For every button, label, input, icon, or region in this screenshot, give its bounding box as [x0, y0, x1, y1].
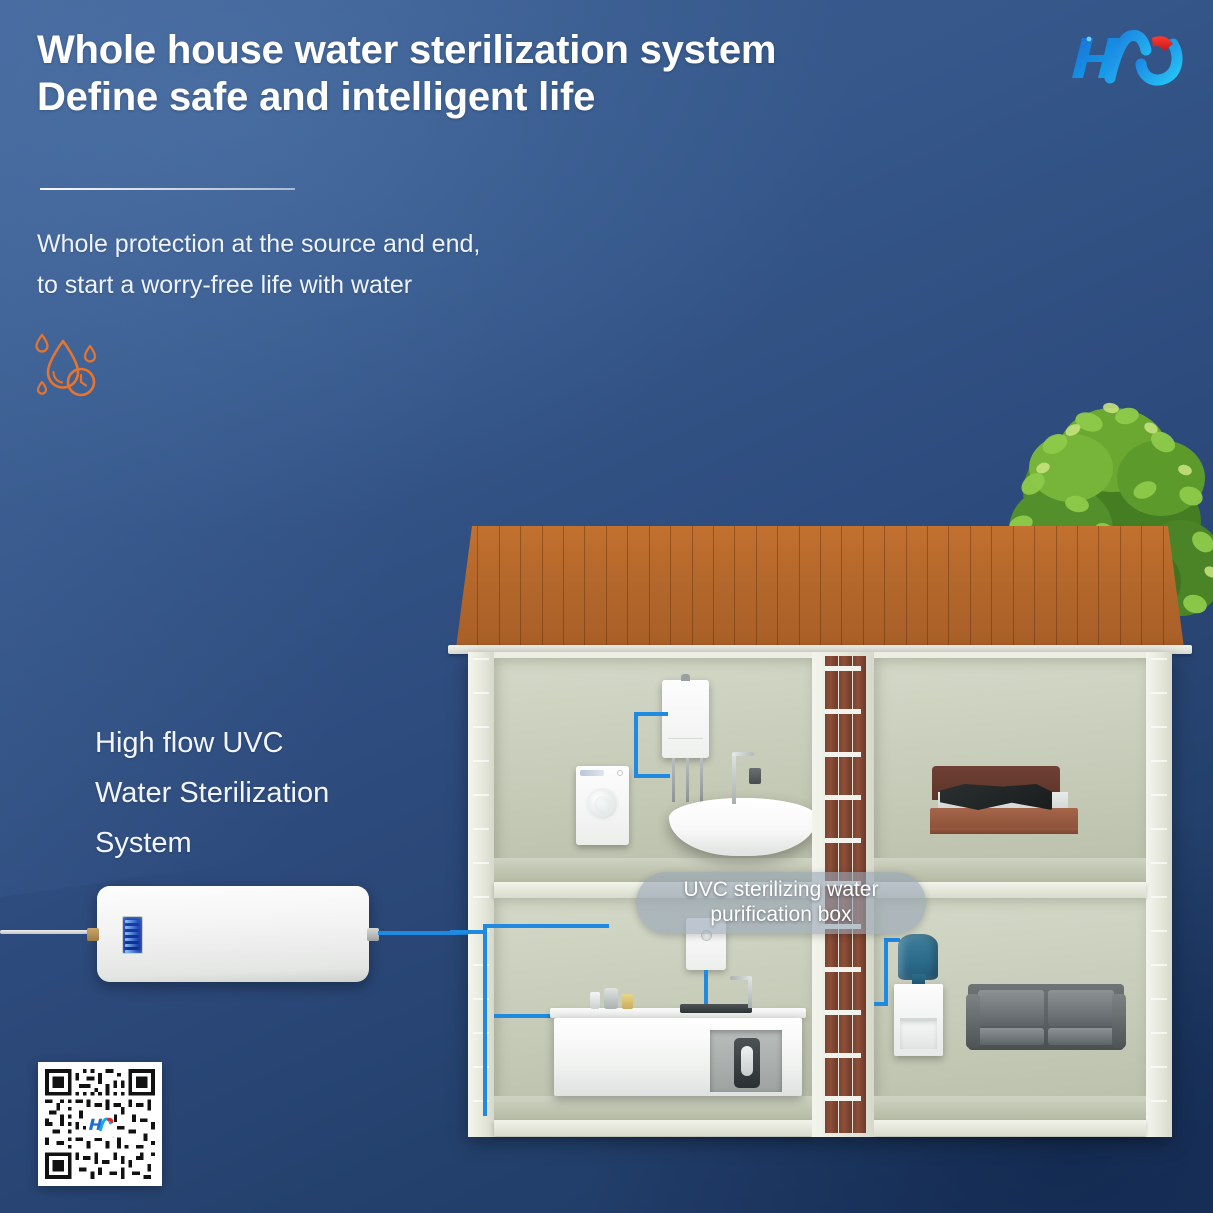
pipe-top-branch: [483, 924, 609, 928]
product-label-line-1: High flow UVC: [95, 718, 425, 768]
device-lcd-display[interactable]: [122, 916, 143, 954]
heater-pipe-c: [700, 758, 703, 802]
water-dispenser: [894, 984, 943, 1056]
sofa-back-cushion-left: [978, 990, 1044, 1026]
cabinet-appliance: [734, 1038, 760, 1088]
title-divider: [40, 188, 295, 190]
device-inlet-port: [87, 928, 99, 941]
qr-code-matrix: [45, 1069, 155, 1179]
inlet-cable: [0, 930, 100, 934]
subtitle-line-2: to start a worry-free life with water: [37, 265, 677, 306]
tub-faucet-spout: [732, 752, 754, 756]
product-label-line-2: Water Sterilization: [95, 768, 425, 818]
uvc-sterilizer-device[interactable]: [97, 886, 369, 982]
bed-base: [930, 808, 1078, 830]
wall-column-right: [1146, 652, 1172, 1137]
headline-line-2: Define safe and intelligent life: [37, 74, 857, 121]
pipe-entry: [450, 930, 486, 934]
counter-top: [550, 1008, 806, 1018]
hc-logo-small: [87, 1115, 113, 1133]
pipe-to-heater-h1: [634, 774, 670, 778]
sofa-arm-left: [966, 994, 980, 1048]
wall-column-left: [468, 652, 494, 1137]
tub-shower-head: [749, 768, 761, 784]
roof-planks: [456, 526, 1184, 648]
pipe-living-feed-h2: [884, 938, 900, 942]
house-cutaway-illustration: [440, 512, 1200, 1142]
bathtub: [669, 798, 812, 856]
room-living: [874, 898, 1146, 1120]
house-roof: [456, 526, 1184, 648]
page-title: Whole house water sterilization system D…: [37, 27, 857, 121]
product-name-label: High flow UVC Water Sterilization System: [95, 718, 425, 868]
sofa-seat-cushion-left: [978, 1028, 1044, 1045]
product-label-line-3: System: [95, 818, 425, 868]
hc-brand-logo: [1060, 22, 1190, 94]
kitchen-faucet-spout: [730, 976, 752, 980]
room-floor: [494, 1096, 812, 1120]
headline-line-1: Whole house water sterilization system: [37, 27, 857, 74]
kitchen-sink: [680, 1004, 752, 1013]
bed-frame-rail: [930, 828, 1078, 834]
tub-faucet-stem: [732, 754, 736, 804]
water-drop-timer-icon: [30, 330, 110, 402]
qr-center-logo: [86, 1110, 114, 1138]
pipe-to-heater-h2: [634, 712, 668, 716]
qr-code[interactable]: [38, 1062, 162, 1186]
counter-item-jar: [622, 994, 633, 1009]
floor-slab-bottom-left: [494, 1120, 812, 1136]
subtitle-line-1: Whole protection at the source and end,: [37, 224, 677, 265]
subtitle: Whole protection at the source and end, …: [37, 224, 677, 307]
room-bedroom: [874, 658, 1146, 882]
heater-pipe-b: [686, 758, 689, 802]
counter-item-pot: [604, 988, 618, 1009]
wall-water-heater: [662, 680, 709, 758]
washing-machine: [576, 766, 629, 845]
heater-pipe-a: [672, 758, 675, 802]
kitchen-faucet-stem: [748, 978, 752, 1008]
sofa-arm-right: [1112, 994, 1126, 1048]
poster-canvas: Whole house water sterilization system D…: [0, 0, 1213, 1213]
sofa-back-cushion-right: [1048, 990, 1114, 1026]
callout-uvc-box: UVC sterilizing water purification box: [636, 872, 926, 934]
pipe-to-heater-v: [634, 712, 638, 778]
callout-text: UVC sterilizing water purification box: [684, 878, 879, 927]
floor-slab-bottom-right: [874, 1120, 1146, 1136]
room-floor: [874, 1096, 1146, 1120]
room-laundry-bathroom: [494, 658, 812, 882]
pipe-living-feed-v: [884, 938, 888, 1006]
sofa-seat-cushion-right: [1048, 1028, 1114, 1045]
counter-item-cup: [590, 992, 600, 1009]
pipe-riser-main: [483, 924, 487, 1116]
